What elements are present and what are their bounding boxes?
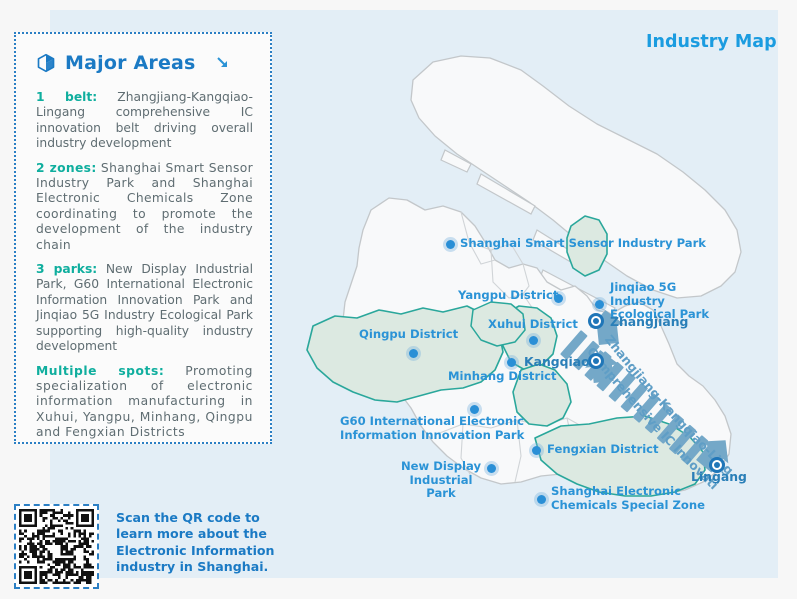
marker-jinqiao-5g-industry-ecological-park[interactable] xyxy=(595,300,604,309)
marker-shanghai-electronic-chemicals-special-zone[interactable] xyxy=(537,495,546,504)
qr-code-icon[interactable] xyxy=(14,504,99,589)
label-minhang-district: Minhang District xyxy=(448,370,557,384)
label-lingang: Lingang xyxy=(691,470,747,484)
paragraph-4-multiple-spots: Multiple spots: Promoting specialization… xyxy=(36,364,253,441)
label-kangqiao: Kangqiao xyxy=(524,355,590,369)
paragraph-1-lead: 1 belt: xyxy=(36,90,97,104)
paragraph-2-lead: 2 zones: xyxy=(36,161,97,175)
page-root: Industry Map Zhangjiang-Kangqiao-Lingang… xyxy=(0,0,797,599)
shanghai-map xyxy=(285,14,797,534)
paragraph-3-lead: 3 parks: xyxy=(36,262,97,276)
label-shanghai-electronic-chemicals-special-zone: Shanghai Electronic Chemicals Special Zo… xyxy=(551,485,711,512)
marker-new-display-industrial-park[interactable] xyxy=(487,464,496,473)
label-g60-international-electronic-information-innovation-park: G60 International Electronic Information… xyxy=(340,415,525,442)
cube-icon xyxy=(36,53,56,73)
paragraph-1-belt: 1 belt: Zhangjiang-Kangqiao-Lingang comp… xyxy=(36,90,253,152)
paragraph-4-lead: Multiple spots: xyxy=(36,364,164,378)
paragraph-2-zones: 2 zones: Shanghai Smart Sensor Industry … xyxy=(36,161,253,253)
map-title: Industry Map xyxy=(646,32,777,52)
label-zhangjiang: Zhangjiang xyxy=(610,315,688,329)
major-areas-card: Major Areas 1 belt: Zhangjiang-Kangqiao-… xyxy=(14,32,272,444)
marker-zhangjiang[interactable] xyxy=(588,313,604,329)
arrow-down-right-icon xyxy=(215,55,231,71)
marker-kangqiao[interactable] xyxy=(588,353,604,369)
card-header: Major Areas xyxy=(16,34,270,74)
marker-shanghai-smart-sensor-industry-park[interactable] xyxy=(446,240,455,249)
card-body: 1 belt: Zhangjiang-Kangqiao-Lingang comp… xyxy=(16,74,270,441)
label-qingpu-district: Qingpu District xyxy=(359,328,458,342)
card-title: Major Areas xyxy=(65,52,196,74)
marker-xuhui-district[interactable] xyxy=(529,336,538,345)
marker-fengxian-district[interactable] xyxy=(532,446,541,455)
label-new-display-industrial-park: New Display Industrial Park xyxy=(395,460,487,501)
label-yangpu-district: Yangpu District xyxy=(458,289,558,303)
marker-minhang-district[interactable] xyxy=(507,358,516,367)
paragraph-3-parks: 3 parks: New Display Industrial Park, G6… xyxy=(36,262,253,354)
marker-qingpu-district[interactable] xyxy=(409,349,418,358)
label-xuhui-district: Xuhui District xyxy=(488,318,578,332)
label-shanghai-smart-sensor-industry-park: Shanghai Smart Sensor Industry Park xyxy=(460,237,706,251)
label-fengxian-district: Fengxian District xyxy=(547,443,659,457)
qr-caption: Scan the QR code to learn more about the… xyxy=(116,510,288,575)
qr-code-graphic xyxy=(19,509,94,584)
marker-g60-international-electronic-information-innovation-park[interactable] xyxy=(470,405,479,414)
